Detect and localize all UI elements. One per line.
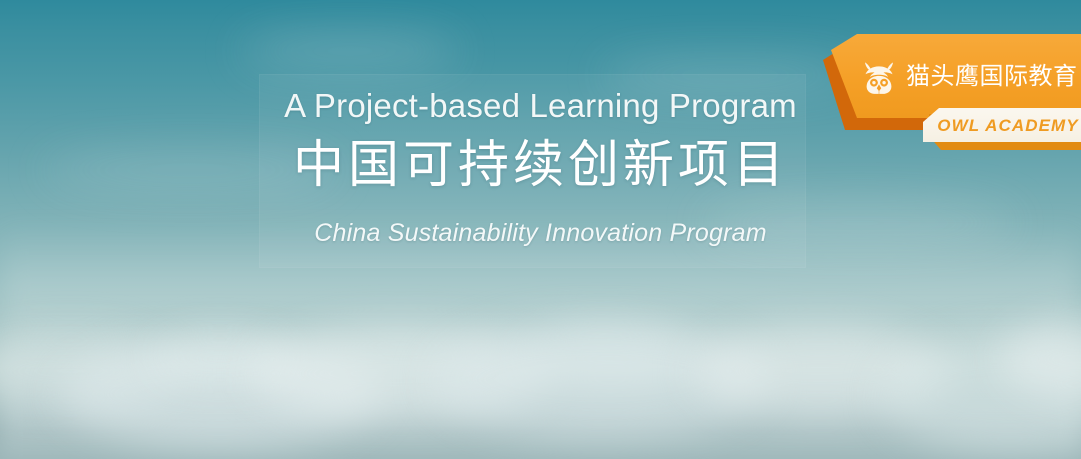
brand-logo-ribbon[interactable]: 猫头鹰国际教育 OWL ACADEMY [813, 34, 1081, 150]
hero-banner: A Project-based Learning Program 中国可持续创新… [0, 0, 1081, 459]
brand-name-cn: 猫头鹰国际教育 [906, 64, 1078, 88]
brand-name-en: OWL ACADEMY [937, 117, 1078, 134]
ribbon-primary-bar: 猫头鹰国际教育 [831, 34, 1081, 118]
title-panel-overlay [259, 74, 806, 268]
cloud-wisp [240, 34, 460, 68]
owl-icon [861, 59, 897, 95]
ribbon-secondary-bar: OWL ACADEMY [923, 108, 1081, 142]
